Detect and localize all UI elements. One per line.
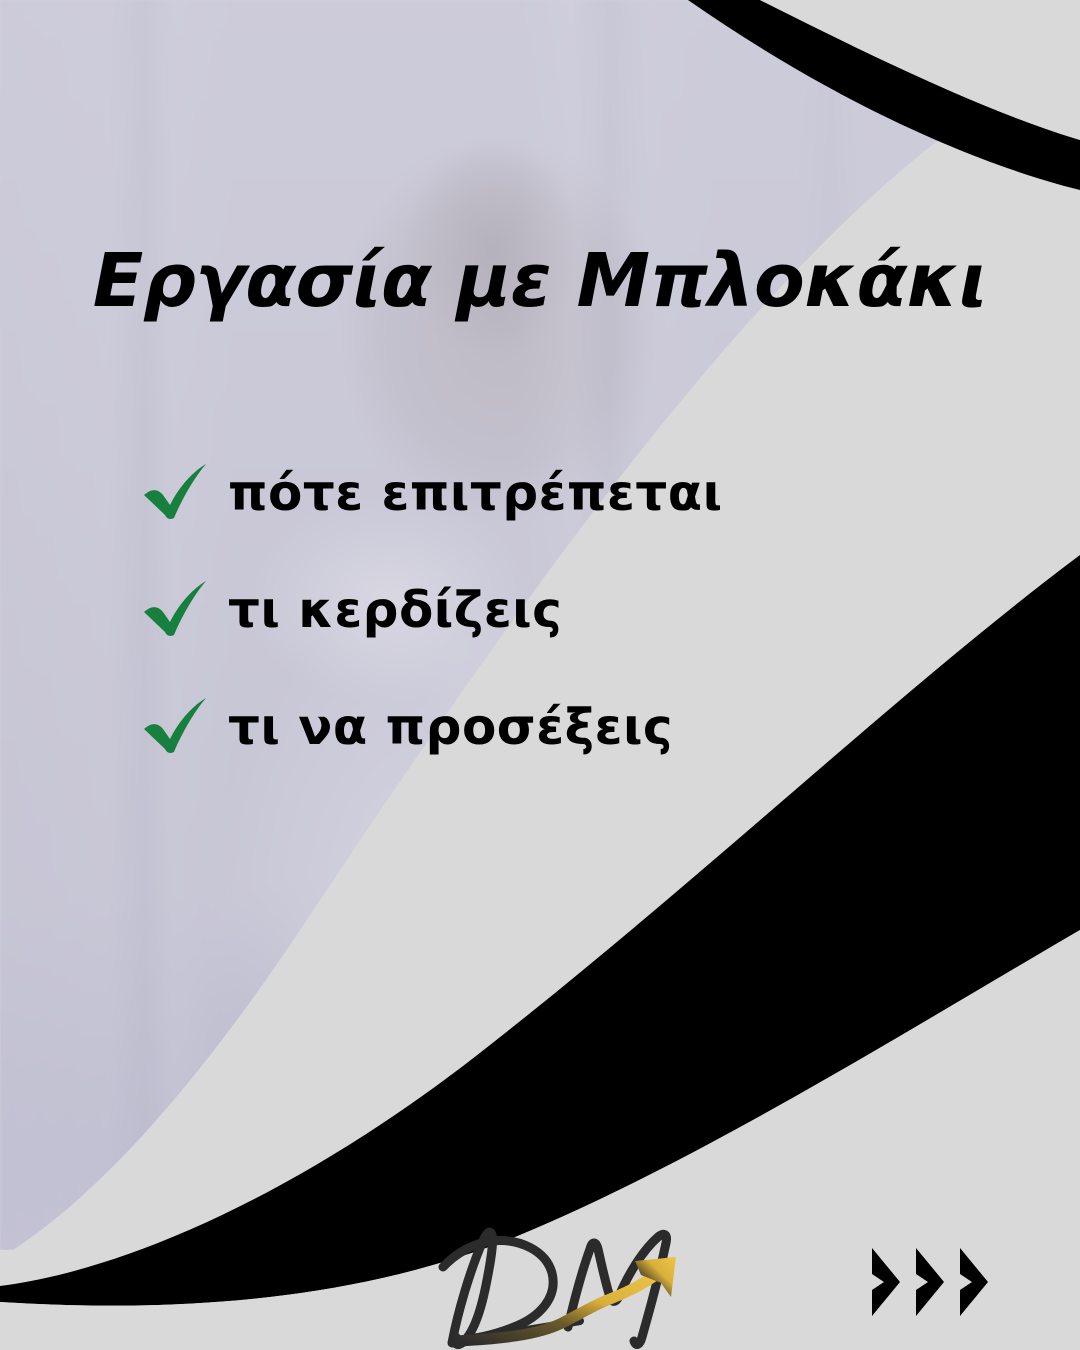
- list-item-label: τι να προσέξεις: [228, 698, 673, 756]
- footer-bar: [0, 1230, 1080, 1350]
- poster-canvas: Εργασία με Μπλοκάκι πότε επιτρέπεται τι …: [0, 0, 1080, 1350]
- list-item: πότε επιτρέπεται: [140, 462, 900, 524]
- list-item-label: πότε επιτρέπεται: [228, 464, 723, 522]
- check-icon: [140, 462, 212, 524]
- list-item: τι να προσέξεις: [140, 696, 900, 758]
- page-title: Εργασία με Μπλοκάκι: [0, 238, 1080, 324]
- list-item-label: τι κερδίζεις: [228, 581, 562, 639]
- check-icon: [140, 579, 212, 641]
- triple-chevron-right-icon[interactable]: [868, 1242, 1008, 1322]
- list-item: τι κερδίζεις: [140, 579, 900, 641]
- check-icon: [140, 696, 212, 758]
- benefits-list: πότε επιτρέπεται τι κερδίζεις τι να προσ…: [140, 462, 900, 813]
- dm-signature-logo[interactable]: [428, 1223, 718, 1350]
